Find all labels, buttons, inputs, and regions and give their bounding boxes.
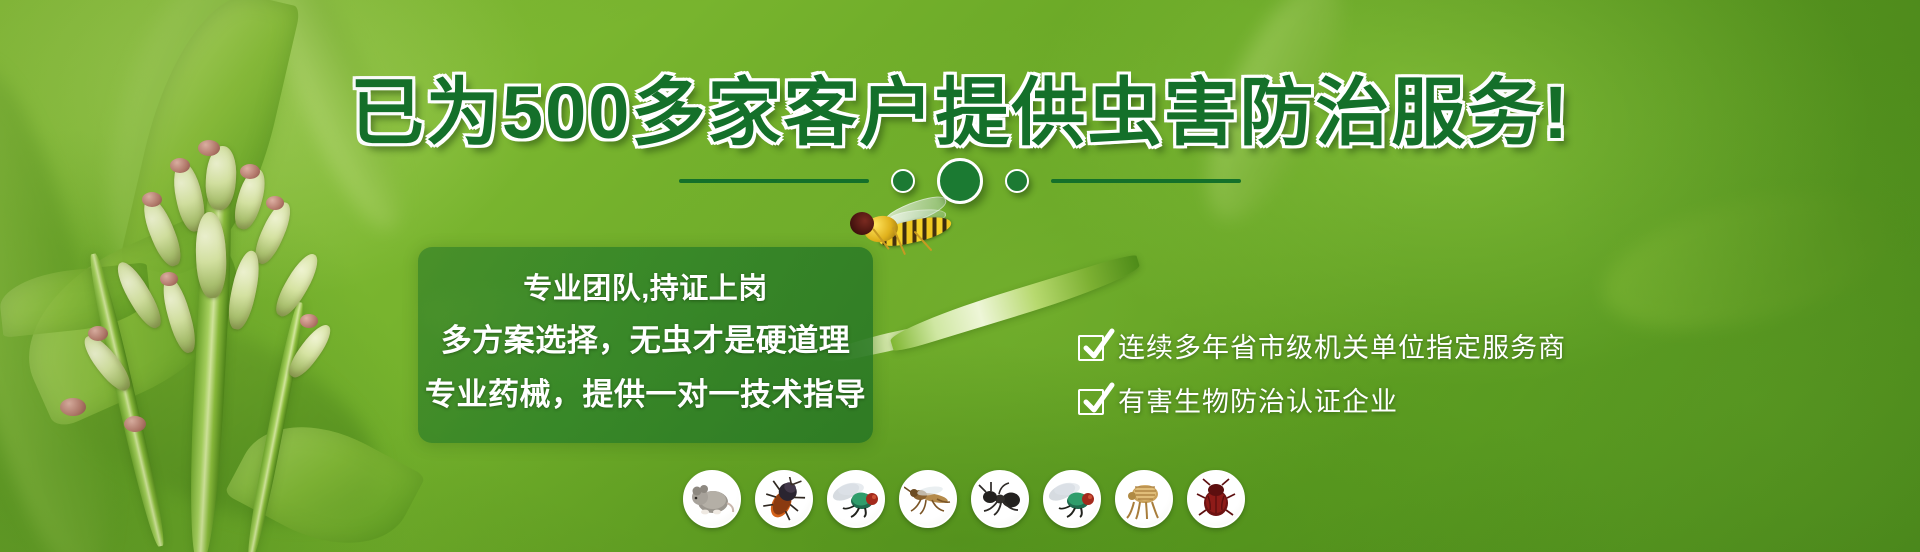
checkbox-checked-icon xyxy=(1078,335,1104,361)
mouse-icon[interactable] xyxy=(683,470,741,528)
head xyxy=(850,212,874,235)
checklist-item-label: 有害生物防治认证企业 xyxy=(1118,387,1398,417)
banner-headline: 已为500多家客户提供虫害防治服务! xyxy=(0,76,1920,150)
bud-tip xyxy=(124,416,146,432)
ant-icon[interactable] xyxy=(971,470,1029,528)
bud-tip xyxy=(300,314,318,328)
divider-dot-small-left xyxy=(891,169,915,193)
flea-icon[interactable] xyxy=(1115,470,1173,528)
checkbox-checked-icon xyxy=(1078,389,1104,415)
credentials-checklist: 连续多年省市级机关单位指定服务商 有害生物防治认证企业 xyxy=(1078,333,1698,441)
bud-tip xyxy=(160,272,178,286)
decorative-divider xyxy=(0,158,1920,204)
feature-panel-line-1: 专业团队,持证上岗 xyxy=(523,267,768,311)
feature-panel-line-3: 专业药械，提供一对一技术指导 xyxy=(425,371,866,419)
checklist-item: 有害生物防治认证企业 xyxy=(1078,387,1698,417)
blowfly-icon[interactable] xyxy=(1043,470,1101,528)
mosquito-icon[interactable] xyxy=(899,470,957,528)
feature-panel-line-2: 多方案选择，无虫才是硬道理 xyxy=(441,317,851,365)
divider-line-right xyxy=(1051,179,1241,183)
divider-dot-small-right xyxy=(1005,169,1029,193)
cockroach-icon[interactable] xyxy=(755,470,813,528)
checklist-item: 连续多年省市级机关单位指定服务商 xyxy=(1078,333,1698,363)
bud-tip xyxy=(60,398,86,416)
divider-dot-large xyxy=(937,158,983,204)
feature-panel: 专业团队,持证上岗 多方案选择，无虫才是硬道理 专业药械，提供一对一技术指导 xyxy=(418,247,873,443)
checklist-item-label: 连续多年省市级机关单位指定服务商 xyxy=(1118,333,1566,363)
divider-line-left xyxy=(679,179,869,183)
bedbug-icon[interactable] xyxy=(1187,470,1245,528)
promo-banner: 已为500多家客户提供虫害防治服务! 专业团队,持证上岗 多方案选择，无虫才是硬… xyxy=(0,0,1920,552)
fly-icon[interactable] xyxy=(827,470,885,528)
bud-tip xyxy=(88,326,108,341)
pest-icon-row xyxy=(683,470,1245,528)
